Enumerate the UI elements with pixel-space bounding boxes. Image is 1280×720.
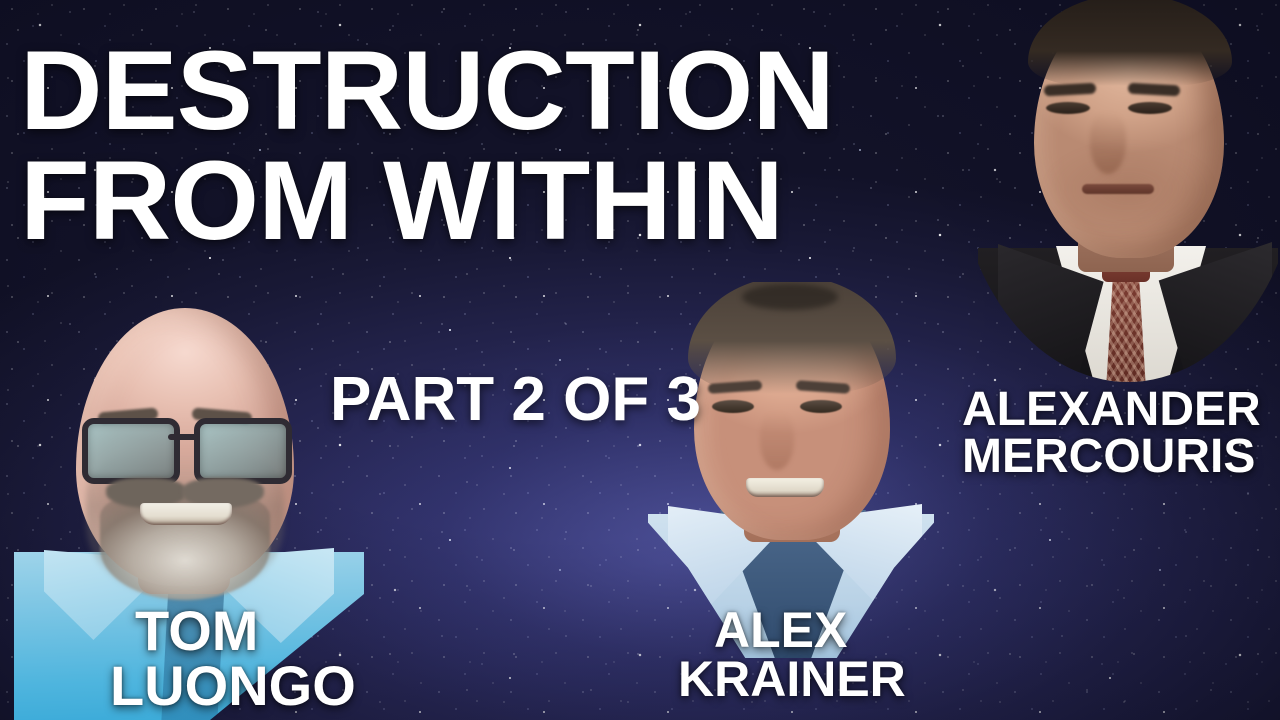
portrait-artwork [978, 0, 1278, 382]
guest-last-name: KRAINER [678, 655, 906, 704]
title-line-2: FROM WITHIN [20, 146, 999, 256]
guest-name-tom-luongo: TOM LUONGO [110, 604, 356, 714]
video-title: DESTRUCTION FROM WITHIN [20, 36, 999, 257]
guest-name-alex-krainer: ALEX KRAINER [678, 606, 906, 704]
face-shading [1040, 144, 1218, 256]
guest-last-name: LUONGO [110, 659, 356, 714]
guest-first-name: TOM [110, 604, 356, 659]
eye-right [800, 400, 842, 413]
mouth [140, 503, 232, 525]
lens-right [194, 418, 292, 484]
eye-right [1128, 102, 1172, 114]
nose [760, 412, 794, 470]
hair [688, 282, 896, 394]
part-line-1: PART 2 [330, 365, 546, 434]
eye-left [1046, 102, 1090, 114]
guest-last-name: MERCOURIS [962, 433, 1261, 480]
hair [1028, 0, 1232, 86]
title-line-1: DESTRUCTION [20, 36, 999, 146]
part-line-2: OF 3 [563, 365, 701, 434]
guest-first-name: ALEX [678, 606, 906, 655]
guest-name-alexander-mercouris: ALEXANDER MERCOURIS [962, 386, 1261, 480]
guest-photo-alexander-mercouris [978, 0, 1278, 382]
part-label: PART 2 OF 3 [330, 368, 630, 432]
glasses-bridge [168, 434, 198, 440]
lens-left [82, 418, 180, 484]
eyeglasses [82, 418, 292, 474]
nose [1090, 112, 1126, 174]
video-thumbnail: DESTRUCTION FROM WITHIN PART 2 OF 3 TOM … [0, 0, 1280, 720]
guest-first-name: ALEXANDER [962, 386, 1261, 433]
mouth [1082, 184, 1154, 194]
mouth [746, 478, 824, 497]
eye-left [712, 400, 754, 413]
